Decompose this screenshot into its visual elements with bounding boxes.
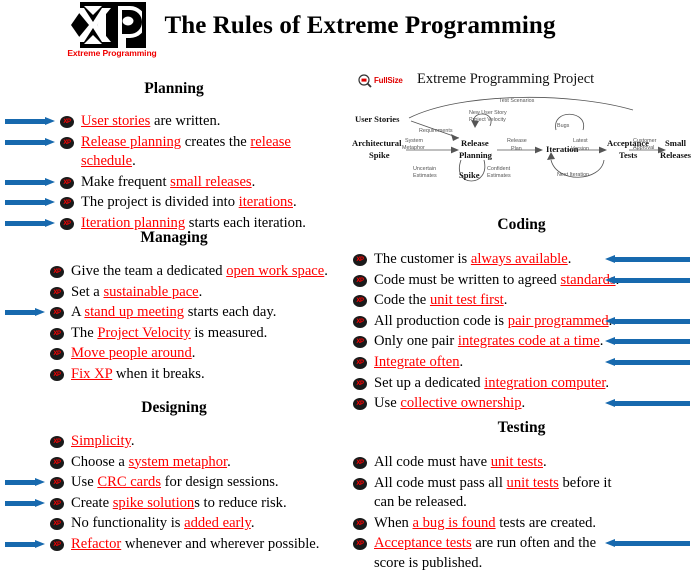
rule-item: XPA stand up meeting starts each day.	[50, 303, 345, 323]
rule-text: .	[504, 292, 508, 308]
diagram-title: Extreme Programming Project	[417, 71, 594, 88]
rule-link[interactable]: CRC cards	[97, 474, 161, 490]
rule-text: .	[199, 284, 203, 300]
diagram-graph: User Stories Architectural Spike Release…	[351, 88, 693, 210]
xp-project-diagram[interactable]: FullSize Extreme Programming Project Use…	[351, 68, 693, 210]
rule-item: XPCreate spike solutions to reduce risk.	[50, 494, 345, 514]
svg-text:Releases: Releases	[660, 150, 692, 160]
rule-text: s to reduce risk.	[194, 495, 286, 511]
svg-text:Release: Release	[461, 138, 489, 148]
rule-text: Use	[374, 395, 400, 411]
rule-text: .	[600, 333, 604, 349]
annotation-arrow-left	[605, 399, 690, 407]
annotation-arrow-left	[605, 539, 690, 547]
rule-text: .	[293, 194, 297, 210]
svg-text:Estimates: Estimates	[413, 173, 437, 179]
rule-item: XPThe project is divided into iterations…	[60, 193, 345, 213]
rule-link[interactable]: pair programmed	[508, 313, 609, 329]
rule-link[interactable]: added early	[184, 515, 251, 531]
rule-item: XPIntegrate often.	[353, 353, 633, 373]
rule-item: XPThe customer is always available.	[353, 250, 633, 270]
annotation-arrow-right	[5, 499, 45, 507]
rule-item: XPOnly one pair integrates code at a tim…	[353, 332, 633, 352]
magnifier-icon	[358, 74, 372, 88]
xp-bullet-icon: XP	[60, 177, 74, 189]
xp-bullet-icon: XP	[60, 116, 74, 128]
svg-text:User Stories: User Stories	[355, 114, 400, 124]
rule-text: A	[71, 304, 84, 320]
rule-link[interactable]: spike solution	[113, 495, 194, 511]
rule-text: creates the	[181, 134, 250, 150]
rule-link[interactable]: Project Velocity	[97, 325, 190, 341]
rule-text: All code must have	[374, 454, 491, 470]
svg-text:Metaphor: Metaphor	[402, 145, 425, 151]
rule-text: .	[460, 354, 464, 370]
svg-text:Uncertain: Uncertain	[413, 166, 436, 172]
xp-bullet-icon: XP	[353, 275, 367, 287]
svg-text:Confident: Confident	[487, 166, 511, 172]
rule-text: Create	[71, 495, 113, 511]
annotation-arrow-left	[605, 337, 690, 345]
fullsize-label: FullSize	[374, 76, 403, 85]
svg-text:Project Velocity: Project Velocity	[469, 117, 506, 123]
rule-link[interactable]: Acceptance tests	[374, 535, 472, 551]
xp-bullet-icon: XP	[60, 197, 74, 209]
xp-bullet-icon: XP	[353, 295, 367, 307]
rule-item: XPAll code must have unit tests.	[353, 453, 625, 473]
xp-bullet-icon: XP	[50, 477, 64, 489]
rule-item: XPThe Project Velocity is measured.	[50, 324, 345, 344]
rule-link[interactable]: always available	[471, 251, 568, 267]
xp-bullet-icon: XP	[353, 538, 367, 550]
rule-link[interactable]: integration computer	[484, 375, 605, 391]
svg-text:Estimates: Estimates	[487, 173, 511, 179]
xp-bullet-icon: XP	[50, 518, 64, 530]
annotation-arrow-right	[5, 219, 55, 227]
rule-link[interactable]: Integrate often	[374, 354, 460, 370]
rule-link[interactable]: Simplicity	[71, 433, 131, 449]
rule-text: Code the	[374, 292, 430, 308]
xp-logo: Extreme Programming	[62, 2, 162, 66]
annotation-arrow-right	[5, 198, 55, 206]
annotation-arrow-right	[5, 540, 45, 548]
annotation-arrow-left	[605, 358, 690, 366]
rule-text: Code must be written to agreed	[374, 272, 560, 288]
rule-item: XPSimplicity.	[50, 432, 345, 452]
xp-bullet-icon: XP	[50, 266, 64, 278]
xp-bullet-icon: XP	[353, 518, 367, 530]
rule-text: Make frequent	[81, 174, 170, 190]
rule-text: The project is divided into	[81, 194, 239, 210]
rule-text: Set a	[71, 284, 103, 300]
rule-text: Choose a	[71, 454, 129, 470]
rule-link[interactable]: Move people around	[71, 345, 192, 361]
rule-text: .	[252, 174, 256, 190]
page-header: Extreme Programming The Rules of Extreme…	[0, 0, 695, 68]
annotation-arrow-right	[5, 138, 55, 146]
xp-bullet-icon: XP	[353, 378, 367, 390]
rule-link[interactable]: small releases	[170, 174, 251, 190]
rule-link[interactable]: stand up meeting	[84, 304, 184, 320]
rule-text: are written.	[150, 113, 220, 129]
rule-item: XPGive the team a dedicated open work sp…	[50, 262, 345, 282]
xp-bullet-icon: XP	[50, 307, 64, 319]
xp-bullet-icon: XP	[50, 369, 64, 381]
xp-bullet-icon: XP	[60, 137, 74, 149]
annotation-arrow-right	[5, 308, 45, 316]
rule-item: XPFix XP when it breaks.	[50, 365, 345, 385]
svg-text:New User Story: New User Story	[469, 110, 507, 116]
xp-bullet-icon: XP	[50, 457, 64, 469]
rule-text: Only one pair	[374, 333, 458, 349]
rule-item: XPAll code must pass all unit tests befo…	[353, 474, 625, 513]
rule-item: XPUse CRC cards for design sessions.	[50, 473, 345, 493]
rule-text: for design sessions.	[161, 474, 279, 490]
rule-link[interactable]: collective ownership	[400, 395, 521, 411]
rule-item: XPMove people around.	[50, 344, 345, 364]
svg-text:Latest: Latest	[573, 138, 588, 144]
rule-item: XPSet up a dedicated integration compute…	[353, 374, 633, 394]
rule-text: .	[192, 345, 196, 361]
svg-text:Next Iteration: Next Iteration	[557, 172, 589, 178]
xp-bullet-icon: XP	[50, 328, 64, 340]
svg-text:Planning: Planning	[459, 150, 493, 160]
section-heading-coding: Coding	[348, 216, 695, 234]
svg-text:Approval: Approval	[633, 145, 654, 151]
svg-text:Architectural: Architectural	[352, 138, 402, 148]
rule-text: .	[605, 375, 609, 391]
section-heading-designing: Designing	[0, 399, 348, 417]
rule-link[interactable]: Fix XP	[71, 366, 112, 382]
rule-text: .	[568, 251, 572, 267]
rule-text: .	[227, 454, 231, 470]
rule-item: XPRelease planning creates the release s…	[60, 133, 345, 172]
section-heading-planning: Planning	[0, 80, 348, 98]
rule-text: .	[251, 515, 255, 531]
rule-link[interactable]: unit test first	[430, 292, 504, 308]
svg-text:Plan: Plan	[511, 146, 522, 152]
rule-text: when it breaks.	[112, 366, 204, 382]
rule-item: XPSet a sustainable pace.	[50, 283, 345, 303]
rule-link[interactable]: sustainable pace	[103, 284, 198, 300]
xp-bullet-icon: XP	[353, 398, 367, 410]
svg-text:Spike: Spike	[369, 150, 390, 160]
svg-text:Requirements: Requirements	[419, 128, 453, 134]
rule-item: XPCode must be written to agreed standar…	[353, 271, 633, 291]
rule-text: Give the team a dedicated	[71, 263, 226, 279]
rule-item: XPCode the unit test first.	[353, 291, 633, 311]
rule-link[interactable]: Refactor	[71, 536, 121, 552]
rule-text: .	[522, 395, 526, 411]
rule-link[interactable]: unit tests	[507, 475, 559, 491]
xp-bullet-icon: XP	[353, 254, 367, 266]
annotation-arrow-left	[605, 276, 690, 284]
svg-text:Bugs: Bugs	[557, 123, 570, 129]
xp-logo-caption: Extreme Programming	[62, 48, 162, 58]
rule-text: .	[131, 433, 135, 449]
rule-text: .	[132, 153, 136, 169]
annotation-arrow-left	[605, 255, 690, 263]
rule-item: XPAcceptance tests are run often and the…	[353, 534, 625, 573]
rule-link[interactable]: a bug is found	[413, 515, 496, 531]
rule-item: XPWhen a bug is found tests are created.	[353, 514, 625, 534]
svg-text:Customer: Customer	[633, 138, 657, 144]
svg-text:System: System	[405, 138, 423, 144]
rule-text: whenever and wherever possible.	[121, 536, 319, 552]
rule-text: When	[374, 515, 413, 531]
fullsize-button[interactable]: FullSize	[358, 73, 403, 88]
svg-text:Version: Version	[571, 146, 589, 152]
rule-link[interactable]: Release planning	[81, 134, 181, 150]
rule-text: is measured.	[191, 325, 268, 341]
rule-text: All code must pass all	[374, 475, 507, 491]
annotation-arrow-right	[5, 478, 45, 486]
rule-link[interactable]: open work space	[226, 263, 324, 279]
xp-bullet-icon: XP	[353, 357, 367, 369]
annotation-arrow-left	[605, 317, 690, 325]
rule-link[interactable]: User stories	[81, 113, 150, 129]
rule-text: No functionality is	[71, 515, 184, 531]
rule-item: XPNo functionality is added early.	[50, 514, 345, 534]
rule-text: Use	[71, 474, 97, 490]
rule-list-planning: XPUser stories are written.XPRelease pla…	[60, 112, 345, 235]
xp-bullet-icon: XP	[353, 336, 367, 348]
xp-bullet-icon: XP	[50, 539, 64, 551]
xp-logo-mark	[62, 2, 162, 52]
svg-text:Small: Small	[665, 138, 687, 148]
section-heading-testing: Testing	[348, 419, 695, 437]
rule-text: Set up a dedicated	[374, 375, 484, 391]
rule-text: .	[543, 454, 547, 470]
annotation-arrow-right	[5, 178, 55, 186]
rule-item: XPRefactor whenever and wherever possibl…	[50, 535, 345, 555]
rule-item: XPAll production code is pair programmed…	[353, 312, 633, 332]
rule-link[interactable]: integrates code at a time	[458, 333, 600, 349]
rule-list-managing: XPGive the team a dedicated open work sp…	[50, 262, 345, 386]
xp-bullet-icon: XP	[50, 498, 64, 510]
rule-text: .	[324, 263, 328, 279]
xp-bullet-icon: XP	[353, 316, 367, 328]
annotation-arrow-right	[5, 117, 55, 125]
rule-item: XPMake frequent small releases.	[60, 173, 345, 193]
svg-text:Test Scenarios: Test Scenarios	[499, 98, 535, 104]
rule-text: tests are created.	[496, 515, 596, 531]
rule-link[interactable]: iterations	[239, 194, 293, 210]
rule-link[interactable]: system metaphor	[129, 454, 228, 470]
rule-link[interactable]: unit tests	[491, 454, 543, 470]
section-heading-managing: Managing	[0, 229, 348, 247]
xp-bullet-icon: XP	[353, 478, 367, 490]
svg-text:Release: Release	[507, 138, 527, 144]
xp-bullet-icon: XP	[353, 457, 367, 469]
rule-item: XPUser stories are written.	[60, 112, 345, 132]
rule-list-coding: XPThe customer is always available.XPCod…	[353, 250, 633, 415]
rule-text: The customer is	[374, 251, 471, 267]
rule-text: The	[71, 325, 97, 341]
rule-list-designing: XPSimplicity.XPChoose a system metaphor.…	[50, 432, 345, 556]
xp-bullet-icon: XP	[50, 287, 64, 299]
xp-bullet-icon: XP	[50, 348, 64, 360]
rule-text: starts each day.	[184, 304, 276, 320]
rule-item: XPUse collective ownership.	[353, 394, 633, 414]
rule-list-testing: XPAll code must have unit tests.XPAll co…	[353, 453, 625, 575]
rule-item: XPChoose a system metaphor.	[50, 453, 345, 473]
svg-text:Spike: Spike	[459, 170, 480, 180]
xp-bullet-icon: XP	[50, 436, 64, 448]
page-title: The Rules of Extreme Programming	[150, 12, 570, 40]
svg-text:Tests: Tests	[619, 150, 638, 160]
rule-text: All production code is	[374, 313, 508, 329]
